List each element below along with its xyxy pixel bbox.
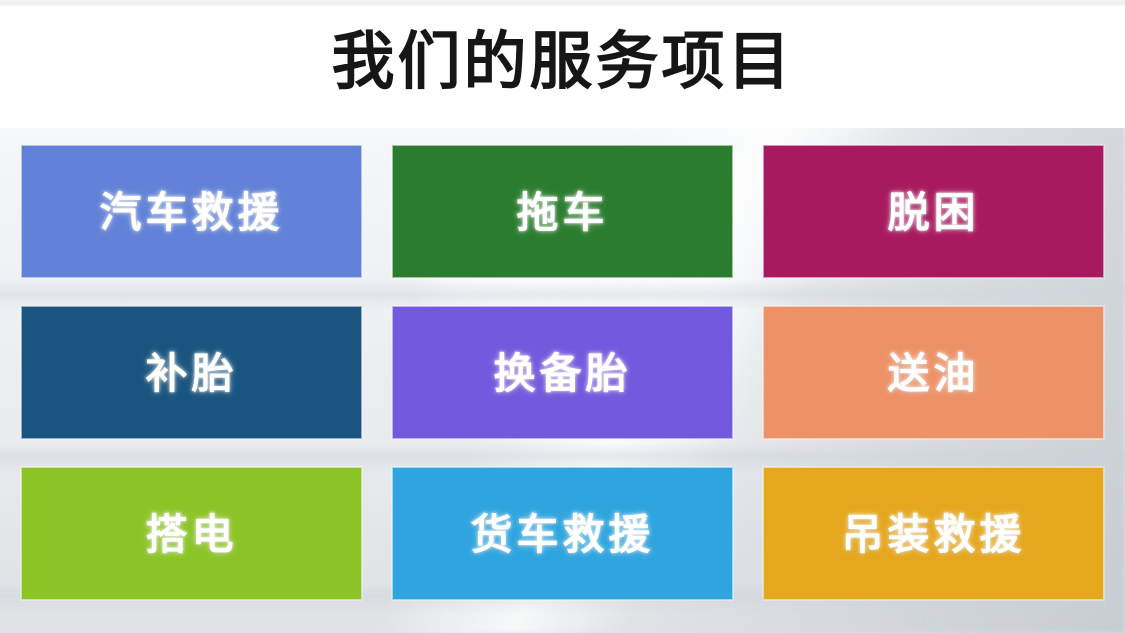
service-tile-label: 汽车救援 <box>99 192 283 234</box>
service-tile-towing[interactable]: 拖车 <box>392 145 733 278</box>
service-tile-roadside-assistance[interactable]: 汽车救援 <box>21 145 362 278</box>
service-tile-crane-lift-rescue[interactable]: 吊装救援 <box>763 467 1104 600</box>
service-tile-grid: 汽车救援拖车脱困补胎换备胎送油搭电货车救援吊装救援 <box>0 128 1125 600</box>
service-tile-label: 搭电 <box>145 514 237 556</box>
service-tile-label: 拖车 <box>516 192 608 234</box>
service-tile-fuel-delivery[interactable]: 送油 <box>763 306 1104 439</box>
service-tile-tire-repair[interactable]: 补胎 <box>21 306 362 439</box>
service-tile-jump-start[interactable]: 搭电 <box>21 467 362 600</box>
service-tile-label: 货车救援 <box>470 514 654 556</box>
service-tile-label: 送油 <box>887 353 979 395</box>
service-tile-extrication[interactable]: 脱困 <box>763 145 1104 278</box>
service-tile-label: 补胎 <box>145 353 237 395</box>
service-tile-label: 吊装救援 <box>841 514 1025 556</box>
page-header: 我们的服务项目 <box>0 0 1125 128</box>
service-tile-label: 脱困 <box>887 192 979 234</box>
service-tile-label: 换备胎 <box>493 353 631 395</box>
page-title: 我们的服务项目 <box>332 31 794 94</box>
service-poster: 我们的服务项目 汽车救援拖车脱困补胎换备胎送油搭电货车救援吊装救援 <box>0 0 1125 633</box>
service-tile-spare-tire-change[interactable]: 换备胎 <box>392 306 733 439</box>
service-tile-truck-rescue[interactable]: 货车救援 <box>392 467 733 600</box>
